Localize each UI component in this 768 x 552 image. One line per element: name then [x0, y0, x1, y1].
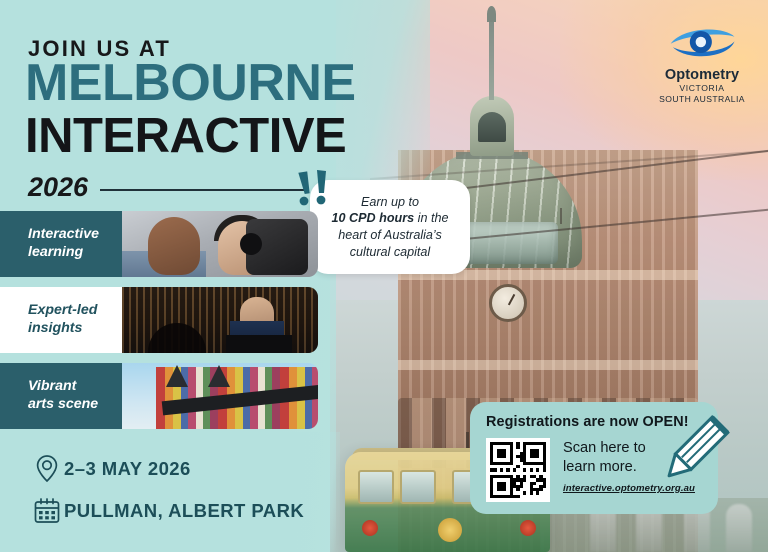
photo-detail: [208, 365, 230, 387]
pencil-icon: [648, 408, 734, 494]
photo-detail: [148, 217, 200, 275]
exclamation-marks-icon: [293, 168, 339, 214]
lantern-window: [478, 112, 506, 142]
tram-tail-light: [362, 520, 378, 536]
tram-tail-light: [520, 520, 536, 536]
facade-cornice-lower: [398, 360, 698, 370]
feature-label: Interactive learning: [0, 211, 118, 277]
event-date-row: 2–3 MAY 2026: [30, 452, 304, 486]
event-venue-row: PULLMAN, ALBERT PARK: [30, 494, 304, 528]
cpd-line-2-rest: in the: [414, 211, 448, 225]
pedestrian-silhouette: [726, 504, 752, 552]
cpd-callout-text: Earn up to 10 CPD hours in the heart of …: [322, 194, 459, 260]
cpd-line-4: cultural capital: [350, 245, 431, 259]
station-clock-icon: [489, 284, 527, 322]
event-date: 2–3 MAY 2026: [64, 458, 191, 480]
cpd-line-3: heart of Australia’s: [338, 228, 442, 242]
cpd-line-1: Earn up to: [361, 195, 419, 209]
wire-dropper: [560, 208, 562, 224]
dome-spire: [489, 12, 494, 100]
spire-finial: [487, 6, 496, 22]
event-venue: PULLMAN, ALBERT PARK: [64, 500, 304, 522]
feature-label-line-2: insights: [28, 320, 82, 336]
feature-label: Vibrant arts scene: [0, 363, 118, 429]
clinician-and-student-at-slit-lamp-photo: [122, 211, 318, 277]
logo-region-victoria: VICTORIA: [654, 83, 750, 93]
photo-detail: [240, 233, 262, 255]
calendar-icon: [30, 494, 64, 528]
feature-label-line-1: Vibrant: [28, 378, 76, 394]
colourful-acmi-arts-building-photo: [122, 363, 318, 429]
feature-label-line-1: Interactive: [28, 226, 99, 242]
feature-band-expert-led-insights: Expert-led insights: [0, 287, 318, 353]
scan-line-1: Scan here to: [563, 440, 646, 456]
tram-window: [358, 470, 394, 504]
registration-card: Registrations are now OPEN! Scan here to…: [470, 402, 718, 514]
tram-headlight: [438, 518, 462, 542]
qr-code-matrix: [490, 442, 546, 498]
page-title-line-2: INTERACTIVE: [25, 112, 346, 161]
feature-label-line-1: Expert-led: [28, 302, 97, 318]
poster-canvas: JOIN US AT MELBOURNE INTERACTIVE 2026 Op…: [0, 0, 768, 552]
scan-line-2: learn more.: [563, 459, 637, 475]
qr-code-icon[interactable]: [486, 438, 550, 502]
photo-detail: [166, 365, 188, 387]
event-year: 2026: [28, 172, 88, 203]
eye-swoosh-icon: [667, 24, 737, 60]
feature-label: Expert-led insights: [0, 287, 118, 353]
logo-region-south-australia: SOUTH AUSTRALIA: [654, 94, 750, 104]
optometry-logo: Optometry VICTORIA SOUTH AUSTRALIA: [654, 24, 750, 104]
photo-detail: [226, 335, 292, 353]
map-pin-icon: [30, 452, 64, 486]
cpd-highlight: 10 CPD hours: [332, 211, 415, 225]
page-title-line-1: MELBOURNE: [25, 57, 356, 109]
feature-band-vibrant-arts-scene: Vibrant arts scene: [0, 363, 318, 429]
conference-speaker-at-lectern-photo: [122, 287, 318, 353]
logo-wordmark: Optometry: [654, 68, 750, 83]
title-divider: [100, 189, 305, 191]
feature-label-line-2: arts scene: [28, 396, 98, 412]
feature-band-interactive-learning: Interactive learning: [0, 211, 318, 277]
feature-label-line-2: learning: [28, 244, 83, 260]
tram-window: [400, 470, 436, 504]
event-details: 2–3 MAY 2026 PULLMAN, ALBERT PARK: [30, 452, 304, 536]
